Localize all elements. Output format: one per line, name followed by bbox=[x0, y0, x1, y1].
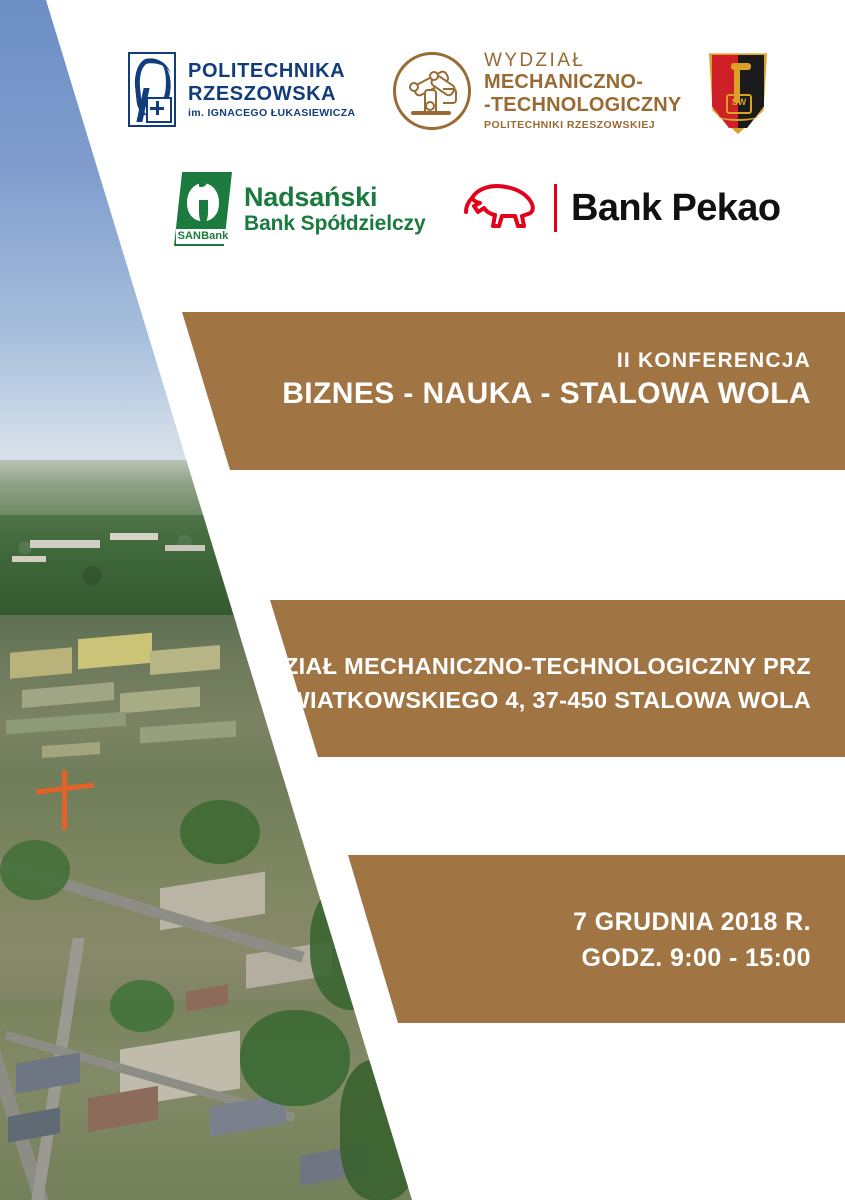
politechnika-wordmark: POLITECHNIKA RZESZOWSKA im. IGNACEGO ŁUK… bbox=[188, 60, 355, 119]
politechnika-line3: im. IGNACEGO ŁUKASIEWICZA bbox=[188, 107, 355, 119]
bank-pekao-logo: Bank Pekao bbox=[462, 182, 780, 234]
sanbank-tag: SANBank bbox=[176, 229, 230, 244]
photo-building bbox=[12, 556, 46, 562]
photo-crane-mast bbox=[62, 770, 67, 830]
pekao-wordmark: Bank Pekao bbox=[571, 187, 780, 230]
sanbank-apple-icon: SANBank bbox=[174, 172, 232, 246]
wydzial-line3: -TECHNOLOGICZNY bbox=[484, 94, 681, 116]
politechnika-rzeszowska-logo: POLITECHNIKA RZESZOWSKA im. IGNACEGO ŁUK… bbox=[128, 52, 355, 127]
photo-building bbox=[110, 533, 158, 540]
politechnika-monogram-icon bbox=[128, 52, 176, 127]
photo-tree-cluster bbox=[240, 1010, 350, 1106]
conference-kicker: II KONFERENCJA bbox=[282, 348, 811, 374]
robot-arm-icon bbox=[393, 52, 471, 130]
wydzial-line1: WYDZIAŁ bbox=[484, 50, 681, 71]
nadsanski-bank-spoldzielczy-logo: SANBank Nadsański Bank Spółdzielczy bbox=[174, 172, 426, 246]
venue-line-1: WYDZIAŁ MECHANICZNO-TECHNOLOGICZNY PRZ bbox=[225, 649, 811, 683]
wydzial-line2: MECHANICZNO- bbox=[484, 71, 681, 93]
politechnika-line1: POLITECHNIKA bbox=[188, 60, 355, 82]
photo-factory-hall bbox=[10, 647, 72, 678]
date-line: 7 GRUDNIA 2018 R. bbox=[573, 904, 811, 940]
sanbank-wordmark: Nadsański Bank Spółdzielczy bbox=[244, 182, 426, 236]
photo-building bbox=[165, 545, 205, 551]
conference-poster: POLITECHNIKA RZESZOWSKA im. IGNACEGO ŁUK… bbox=[0, 0, 845, 1200]
wydzial-mechaniczno-technologiczny-logo: WYDZIAŁ MECHANICZNO- -TECHNOLOGICZNY POL… bbox=[393, 50, 681, 131]
venue-line-2: UL. KWIATKOWSKIEGO 4, 37-450 STALOWA WOL… bbox=[225, 683, 811, 717]
bison-icon bbox=[462, 182, 540, 234]
photo-building bbox=[30, 540, 100, 548]
politechnika-line2: RZESZOWSKA bbox=[188, 83, 355, 105]
sanbank-line2: Bank Spółdzielczy bbox=[244, 212, 426, 236]
wydzial-line4: POLITECHNIKI RZESZOWSKIEJ bbox=[484, 119, 681, 131]
photo-tree-cluster bbox=[110, 980, 174, 1032]
wydzial-wordmark: WYDZIAŁ MECHANICZNO- -TECHNOLOGICZNY POL… bbox=[484, 50, 681, 131]
photo-tree-cluster bbox=[340, 1060, 420, 1200]
conference-headline: BIZNES - NAUKA - STALOWA WOLA bbox=[282, 374, 811, 413]
photo-tree-cluster bbox=[180, 800, 260, 864]
stalowa-wola-crest: SW bbox=[709, 50, 767, 134]
time-line: GODZ. 9:00 - 15:00 bbox=[573, 940, 811, 976]
photo-tree-cluster bbox=[0, 840, 70, 900]
shield-icon: SW bbox=[709, 50, 767, 134]
cross-icon bbox=[146, 97, 172, 123]
pekao-divider bbox=[554, 184, 557, 232]
sanbank-line1: Nadsański bbox=[244, 182, 426, 212]
